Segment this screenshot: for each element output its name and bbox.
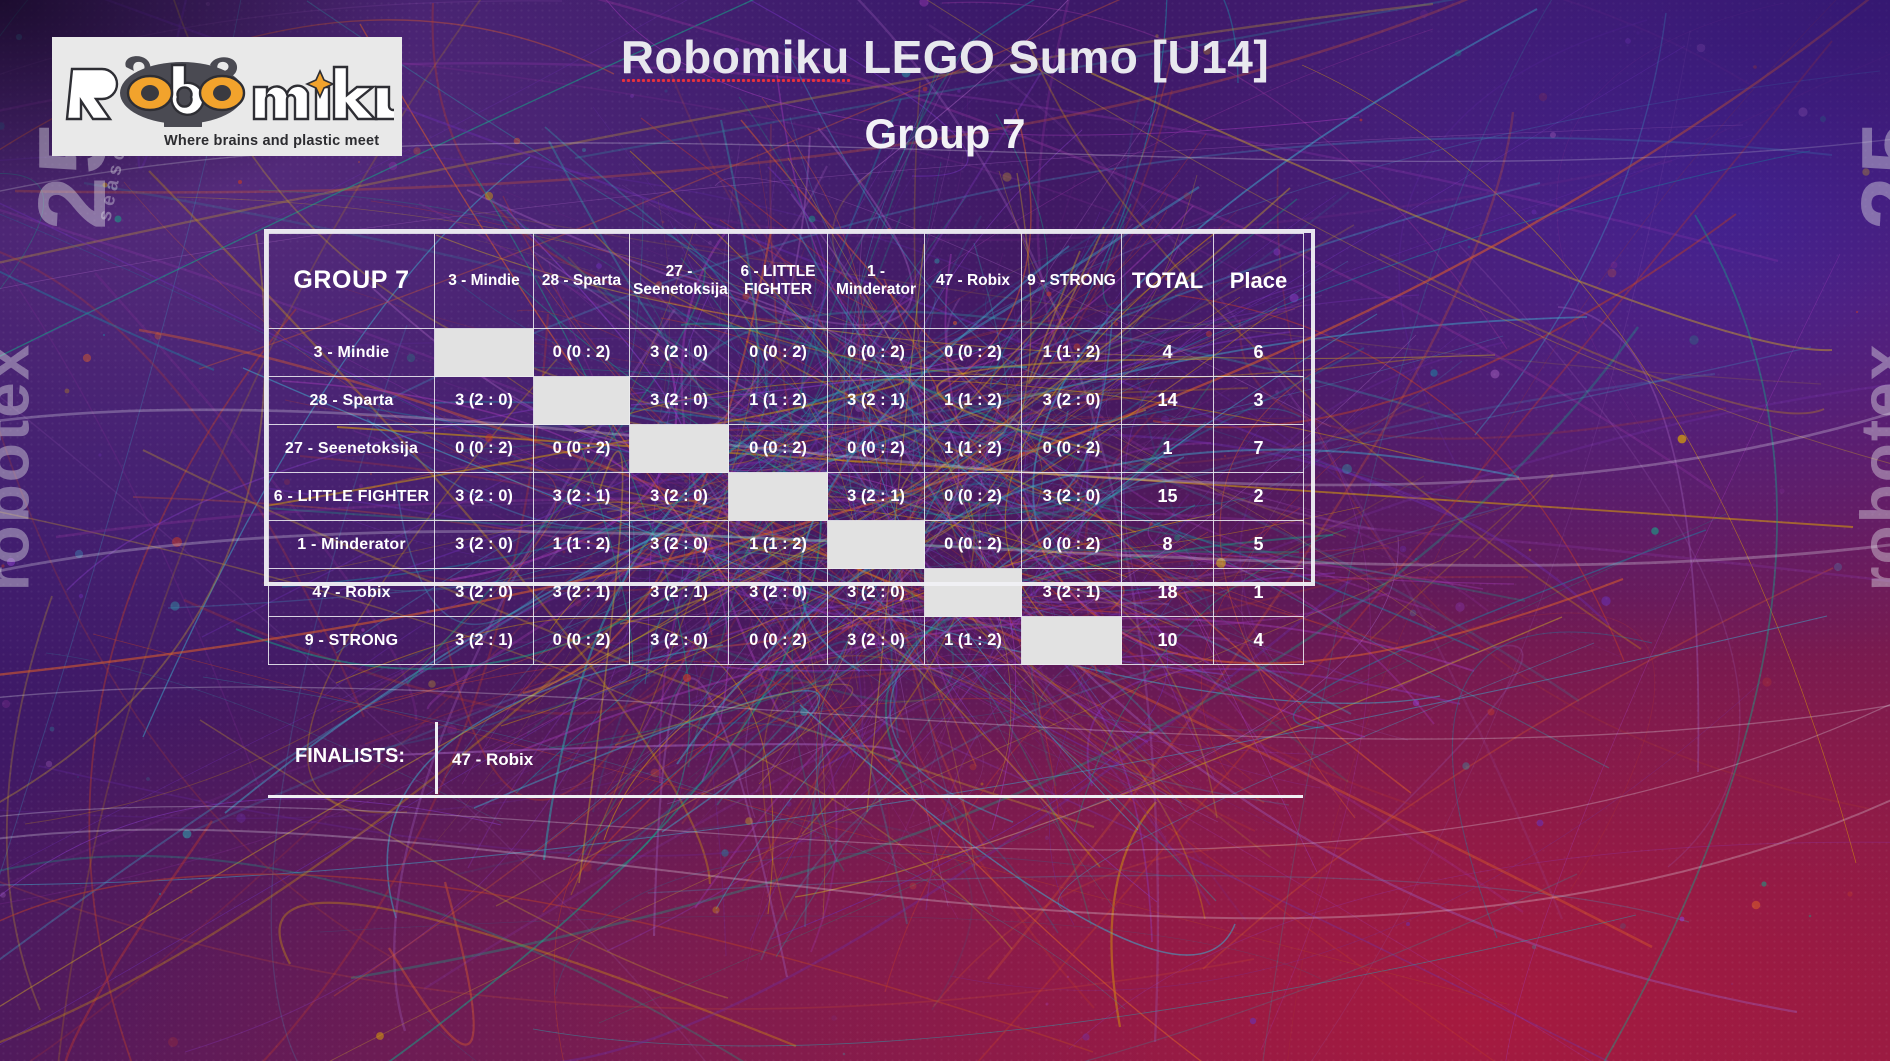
table-cell-score: 3 (2 : 1) xyxy=(828,377,925,425)
table-cell-score: 0 (0 : 2) xyxy=(1022,521,1122,569)
watermark-robotex-right: robotex xyxy=(1847,343,1890,592)
table-row: 3 - Mindie0 (0 : 2)3 (2 : 0)0 (0 : 2)0 (… xyxy=(269,329,1304,377)
row-header-team: 1 - Minderator xyxy=(269,521,435,569)
col-header-place: Place xyxy=(1214,234,1304,329)
table-row: 9 - STRONG3 (2 : 1)0 (0 : 2)3 (2 : 0)0 (… xyxy=(269,617,1304,665)
table-cell-score: 3 (2 : 1) xyxy=(534,473,630,521)
table-cell-score: 3 (2 : 0) xyxy=(630,617,729,665)
table-cell-place: 4 xyxy=(1214,617,1304,665)
table-cell-score: 0 (0 : 2) xyxy=(435,425,534,473)
finalists-label: FINALISTS: xyxy=(295,745,405,768)
table-cell-score: 3 (2 : 0) xyxy=(1022,473,1122,521)
table-cell-score: 1 (1 : 2) xyxy=(925,377,1022,425)
table-head: GROUP 7 3 - Mindie 28 - Sparta 27 - Seen… xyxy=(269,234,1304,329)
table-cell-total: 18 xyxy=(1122,569,1214,617)
table-cell-score: 3 (2 : 1) xyxy=(435,617,534,665)
group-results-table: GROUP 7 3 - Mindie 28 - Sparta 27 - Seen… xyxy=(268,233,1304,665)
row-header-team: 27 - Seenetoksija xyxy=(269,425,435,473)
table-cell-diagonal xyxy=(630,425,729,473)
col-header-6: 9 - STRONG xyxy=(1022,234,1122,329)
table-cell-place: 1 xyxy=(1214,569,1304,617)
col-header-3: 6 - LITTLE FIGHTER xyxy=(729,234,828,329)
finalists-divider xyxy=(435,722,438,794)
table-cell-score: 0 (0 : 2) xyxy=(925,329,1022,377)
table-cell-score: 0 (0 : 2) xyxy=(729,617,828,665)
table-cell-score: 3 (2 : 0) xyxy=(828,617,925,665)
table-cell-score: 3 (2 : 0) xyxy=(630,329,729,377)
table-row: 6 - LITTLE FIGHTER3 (2 : 0)3 (2 : 1)3 (2… xyxy=(269,473,1304,521)
table-row: 27 - Seenetoksija0 (0 : 2)0 (0 : 2)0 (0 … xyxy=(269,425,1304,473)
row-header-team: 6 - LITTLE FIGHTER xyxy=(269,473,435,521)
col-header-5: 47 - Robix xyxy=(925,234,1022,329)
table-cell-score: 3 (2 : 0) xyxy=(828,569,925,617)
table-row: 47 - Robix3 (2 : 0)3 (2 : 1)3 (2 : 1)3 (… xyxy=(269,569,1304,617)
table-cell-place: 3 xyxy=(1214,377,1304,425)
col-header-1: 28 - Sparta xyxy=(534,234,630,329)
table-cell-score: 0 (0 : 2) xyxy=(1022,425,1122,473)
row-header-team: 9 - STRONG xyxy=(269,617,435,665)
table-cell-total: 8 xyxy=(1122,521,1214,569)
results-table-container: GROUP 7 3 - Mindie 28 - Sparta 27 - Seen… xyxy=(268,233,1303,665)
table-cell-place: 7 xyxy=(1214,425,1304,473)
table-cell-total: 10 xyxy=(1122,617,1214,665)
table-cell-score: 3 (2 : 0) xyxy=(630,377,729,425)
page-title: Robomiku LEGO Sumo [U14] xyxy=(0,30,1890,84)
table-cell-score: 3 (2 : 1) xyxy=(534,569,630,617)
table-cell-total: 14 xyxy=(1122,377,1214,425)
table-cell-score: 1 (1 : 2) xyxy=(925,425,1022,473)
row-header-team: 28 - Sparta xyxy=(269,377,435,425)
table-cell-place: 2 xyxy=(1214,473,1304,521)
footer-rule xyxy=(268,795,1303,798)
page-subtitle: Group 7 xyxy=(0,110,1890,158)
table-cell-score: 3 (2 : 0) xyxy=(435,473,534,521)
table-cell-score: 3 (2 : 1) xyxy=(630,569,729,617)
col-header-total: TOTAL xyxy=(1122,234,1214,329)
row-header-team: 47 - Robix xyxy=(269,569,435,617)
finalist-entry: 47 - Robix xyxy=(452,750,533,770)
watermark-robotex-left: robotex xyxy=(0,343,43,592)
table-cell-score: 0 (0 : 2) xyxy=(729,425,828,473)
table-cell-score: 3 (2 : 0) xyxy=(630,473,729,521)
table-cell-score: 3 (2 : 0) xyxy=(435,569,534,617)
table-cell-score: 1 (1 : 2) xyxy=(534,521,630,569)
table-cell-place: 5 xyxy=(1214,521,1304,569)
title-rest: LEGO Sumo [U14] xyxy=(850,31,1269,83)
table-cell-score: 3 (2 : 1) xyxy=(1022,569,1122,617)
table-body: 3 - Mindie0 (0 : 2)3 (2 : 0)0 (0 : 2)0 (… xyxy=(269,329,1304,665)
table-cell-score: 3 (2 : 0) xyxy=(630,521,729,569)
table-cell-score: 1 (1 : 2) xyxy=(925,617,1022,665)
table-cell-diagonal xyxy=(435,329,534,377)
table-row: 28 - Sparta3 (2 : 0)3 (2 : 0)1 (1 : 2)3 … xyxy=(269,377,1304,425)
table-cell-score: 1 (1 : 2) xyxy=(729,377,828,425)
table-cell-diagonal xyxy=(828,521,925,569)
col-header-4: 1 - Minderator xyxy=(828,234,925,329)
table-cell-score: 3 (2 : 0) xyxy=(435,377,534,425)
table-cell-score: 3 (2 : 0) xyxy=(435,521,534,569)
table-cell-score: 3 (2 : 0) xyxy=(729,569,828,617)
table-corner-label: GROUP 7 xyxy=(269,234,435,329)
table-cell-score: 0 (0 : 2) xyxy=(534,329,630,377)
table-cell-score: 0 (0 : 2) xyxy=(925,473,1022,521)
title-spellchecked-word: Robomiku xyxy=(621,30,850,84)
table-cell-score: 0 (0 : 2) xyxy=(828,425,925,473)
table-cell-score: 0 (0 : 2) xyxy=(828,329,925,377)
table-cell-diagonal xyxy=(925,569,1022,617)
row-header-team: 3 - Mindie xyxy=(269,329,435,377)
table-cell-score: 0 (0 : 2) xyxy=(729,329,828,377)
table-cell-place: 6 xyxy=(1214,329,1304,377)
table-cell-diagonal xyxy=(1022,617,1122,665)
table-cell-diagonal xyxy=(729,473,828,521)
table-cell-score: 0 (0 : 2) xyxy=(925,521,1022,569)
table-cell-score: 1 (1 : 2) xyxy=(1022,329,1122,377)
table-cell-score: 0 (0 : 2) xyxy=(534,617,630,665)
table-cell-total: 4 xyxy=(1122,329,1214,377)
table-cell-score: 3 (2 : 1) xyxy=(828,473,925,521)
table-row: 1 - Minderator3 (2 : 0)1 (1 : 2)3 (2 : 0… xyxy=(269,521,1304,569)
col-header-2: 27 - Seenetoksija xyxy=(630,234,729,329)
table-cell-total: 15 xyxy=(1122,473,1214,521)
table-cell-total: 1 xyxy=(1122,425,1214,473)
col-header-0: 3 - Mindie xyxy=(435,234,534,329)
table-cell-score: 0 (0 : 2) xyxy=(534,425,630,473)
table-cell-score: 3 (2 : 0) xyxy=(1022,377,1122,425)
table-cell-score: 1 (1 : 2) xyxy=(729,521,828,569)
table-cell-diagonal xyxy=(534,377,630,425)
table-header-row: GROUP 7 3 - Mindie 28 - Sparta 27 - Seen… xyxy=(269,234,1304,329)
